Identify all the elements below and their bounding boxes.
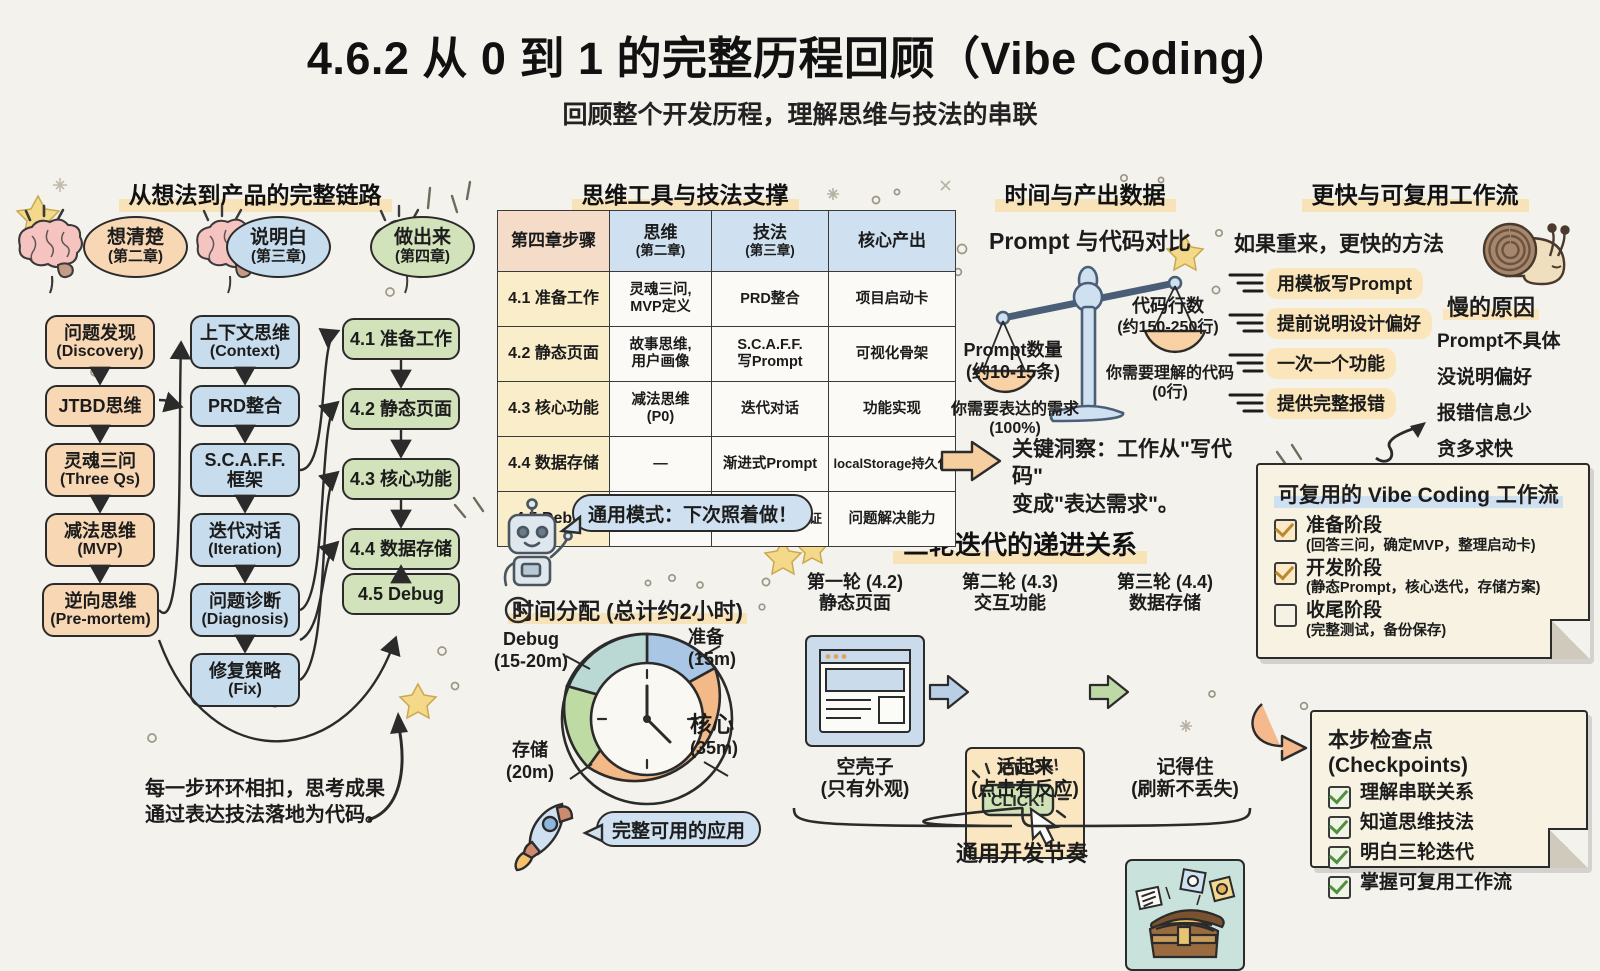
round-2-title: 第二轮 (4.3) 交互功能 bbox=[940, 572, 1080, 614]
chain-footnote: 每一步环环相扣，思考成果 通过表达技法落地为代码。 bbox=[120, 776, 410, 828]
cell-step: 4.3 核心功能 bbox=[498, 382, 610, 437]
donut-label-storage: 存储 (20m) bbox=[489, 740, 571, 783]
checkbox-cp1[interactable] bbox=[1328, 786, 1351, 809]
checkpoint-item[interactable]: 掌握可复用工作流 bbox=[1328, 873, 1570, 899]
chapter-bubble-3: 做出来 (第四章) bbox=[370, 216, 475, 278]
iteration-footer: 通用开发节奏 bbox=[792, 836, 1252, 868]
cell-technique: S.C.A.F.F.写Prompt bbox=[712, 327, 829, 382]
chain-footnote-line2: 通过表达技法落地为代码。 bbox=[120, 802, 410, 828]
slow-item-1: Prompt不具体 bbox=[1437, 326, 1561, 353]
checkpoint-item[interactable]: 知道思维技法 bbox=[1328, 813, 1570, 839]
cell-technique: 迭代对话 bbox=[712, 382, 829, 437]
table-row: 4.4 数据存储—渐进式PromptlocalStorage持久化 bbox=[498, 437, 956, 492]
cell-step: 4.2 静态页面 bbox=[498, 327, 610, 382]
card-folded-corner bbox=[1548, 828, 1588, 868]
robot-speech-text: 通用模式：下次照着做！ bbox=[588, 500, 797, 527]
checkbox-cp4[interactable] bbox=[1328, 876, 1351, 899]
faster-item-2: 提前说明设计偏好 bbox=[1266, 308, 1432, 339]
flow-node-discovery: 问题发现 (Discovery) bbox=[45, 315, 155, 369]
chapter-bubble-3-title: 做出来 bbox=[394, 228, 451, 249]
section-heading-tools-label: 思维工具与技法支撑 bbox=[572, 176, 799, 212]
section-heading-chain-label: 从想法到产品的完整链路 bbox=[119, 176, 392, 212]
round-1-title: 第一轮 (4.2) 静态页面 bbox=[785, 572, 925, 614]
scale-caption: Prompt 与代码对比 bbox=[950, 222, 1230, 256]
checkpoints-title: 本步检查点 (Checkpoints) bbox=[1328, 724, 1570, 778]
flow-node-mvp: 减法思维 (MVP) bbox=[45, 513, 155, 567]
reusable-item-2[interactable]: 开发阶段 (静态Prompt，核心迭代，存储方案) bbox=[1274, 559, 1572, 598]
faster-item-1: 用模板写Prompt bbox=[1266, 268, 1423, 299]
checkpoints-card: 本步检查点 (Checkpoints) 理解串联关系 知道思维技法 明白三轮迭代… bbox=[1310, 710, 1588, 868]
flow-node-three-qs: 灵魂三问 (Three Qs) bbox=[45, 443, 155, 497]
faster-title: 如果重来，更快的方法 bbox=[1234, 228, 1444, 258]
section-heading-workflow-label: 更快与可复用工作流 bbox=[1302, 176, 1529, 212]
rocket-speech-bubble: 完整可用的应用 bbox=[596, 811, 761, 847]
cell-step: 4.4 数据存储 bbox=[498, 437, 610, 492]
key-insight-text: 关键洞察：工作从"写代码" 变成"表达需求"。 bbox=[1012, 436, 1242, 518]
reusable-item-3[interactable]: 收尾阶段 (完整测试，备份保存) bbox=[1274, 601, 1572, 640]
key-insight-line1: 关键洞察：工作从"写代码" bbox=[1012, 436, 1242, 491]
checkbox-dev[interactable] bbox=[1274, 562, 1297, 585]
donut-label-debug: Debug (15-20m) bbox=[478, 629, 584, 672]
chapter-bubble-1-sub: (第二章) bbox=[108, 249, 163, 266]
table-header-mindset: 思维 (第二章) bbox=[610, 211, 712, 272]
section-heading-workflow: 更快与可复用工作流 bbox=[1250, 176, 1580, 212]
table-row: 4.1 准备工作灵魂三问,MVP定义PRD整合项目启动卡 bbox=[498, 272, 956, 327]
slow-title: 慢的原因 bbox=[1443, 290, 1539, 322]
flow-node-4-1: 4.1 准备工作 bbox=[342, 318, 460, 360]
robot-speech-bubble: 通用模式：下次照着做！ bbox=[572, 494, 813, 532]
page-subtitle: 回顾整个开发历程，理解思维与技法的串联 bbox=[0, 95, 1600, 131]
checkpoint-item[interactable]: 理解串联关系 bbox=[1328, 783, 1570, 809]
checkbox-cp3[interactable] bbox=[1328, 846, 1351, 869]
treasure-chest-icon bbox=[1130, 865, 1240, 965]
cell-technique: 渐进式Prompt bbox=[712, 437, 829, 492]
checkbox-cp2[interactable] bbox=[1328, 816, 1351, 839]
snail-icon bbox=[1472, 218, 1574, 290]
table-header-technique: 技法 (第三章) bbox=[712, 211, 829, 272]
section-heading-tools: 思维工具与技法支撑 bbox=[520, 176, 850, 212]
chapter-bubble-1-title: 想清楚 bbox=[107, 228, 164, 249]
scale-right-sublabel: 你需要理解的代码 (0行) bbox=[1090, 364, 1250, 402]
round-arrow-1-2 bbox=[928, 674, 970, 710]
flow-node-premortem: 逆向思维 (Pre-mortem) bbox=[42, 583, 159, 637]
list-bullet-lines bbox=[1228, 268, 1268, 428]
cell-output: 项目启动卡 bbox=[829, 272, 956, 327]
slow-item-4: 贪多求快 bbox=[1437, 434, 1513, 461]
chapter-bubble-3-sub: (第四章) bbox=[395, 249, 450, 266]
time-alloc-heading: 时间分配 (总计约2小时) bbox=[508, 594, 788, 626]
cell-step: 4.1 准备工作 bbox=[498, 272, 610, 327]
chapter-bubble-2-sub: (第三章) bbox=[251, 249, 306, 266]
checkbox-prep[interactable] bbox=[1274, 519, 1297, 542]
round-3-caption: 记得住 (刷新不丢失) bbox=[1115, 757, 1255, 802]
flow-node-scaff: S.C.A.F.F. 框架 bbox=[190, 443, 300, 497]
cell-mindset: 减法思维(P0) bbox=[610, 382, 712, 437]
cell-mindset: 灵魂三问,MVP定义 bbox=[610, 272, 712, 327]
flow-node-4-2: 4.2 静态页面 bbox=[342, 388, 460, 430]
checkpoints-arrow-icon bbox=[1248, 698, 1312, 758]
donut-label-prep: 准备 (15m) bbox=[688, 627, 768, 670]
section-heading-data-label: 时间与产出数据 bbox=[995, 176, 1176, 212]
cell-output: localStorage持久化 bbox=[829, 437, 956, 492]
donut-label-core: 核心 (35m) bbox=[690, 712, 770, 760]
page-title: 4.6.2 从 0 到 1 的完整历程回顾（Vibe Coding） bbox=[0, 22, 1600, 87]
checkpoint-item[interactable]: 明白三轮迭代 bbox=[1328, 843, 1570, 869]
flow-node-jtbd: JTBD思维 bbox=[45, 385, 155, 427]
flow-node-4-3: 4.3 核心功能 bbox=[342, 458, 460, 500]
time-alloc-heading-label: 时间分配 (总计约2小时) bbox=[508, 599, 747, 624]
chain-footnote-line1: 每一步环环相扣，思考成果 bbox=[120, 776, 410, 802]
round-2-caption: 活起来 (点击有反应) bbox=[955, 757, 1095, 802]
round-3-title: 第三轮 (4.4) 数据存储 bbox=[1095, 572, 1235, 614]
section-heading-data: 时间与产出数据 bbox=[960, 176, 1210, 212]
table-row: 4.3 核心功能减法思维(P0)迭代对话功能实现 bbox=[498, 382, 956, 437]
flow-node-4-5: 4.5 Debug bbox=[342, 573, 460, 615]
flow-node-prd: PRD整合 bbox=[190, 385, 300, 427]
slow-item-2: 没说明偏好 bbox=[1437, 362, 1532, 389]
table-header-output: 核心产出 bbox=[829, 211, 956, 272]
reusable-workflow-title: 可复用的 Vibe Coding 工作流 bbox=[1274, 479, 1572, 509]
round-3-illustration bbox=[1125, 859, 1245, 971]
curly-up-arrow-icon bbox=[1372, 416, 1444, 466]
flow-node-fix: 修复策略 (Fix) bbox=[190, 653, 300, 707]
flow-node-context: 上下文思维 (Context) bbox=[190, 315, 300, 369]
cell-mindset: 故事思维,用户画像 bbox=[610, 327, 712, 382]
key-insight-line2: 变成"表达需求"。 bbox=[1012, 491, 1242, 518]
faster-item-3: 一次一个功能 bbox=[1266, 348, 1396, 379]
flow-node-4-4: 4.4 数据存储 bbox=[342, 528, 460, 570]
reusable-workflow-card: 可复用的 Vibe Coding 工作流 准备阶段 (回答三问，确定MVP，整理… bbox=[1256, 463, 1590, 659]
cell-mindset: — bbox=[610, 437, 712, 492]
table-header-row: 第四章步骤 思维 (第二章) 技法 (第三章) 核心产出 bbox=[498, 211, 956, 272]
flow-node-diagnosis: 问题诊断 (Diagnosis) bbox=[190, 583, 300, 637]
round-1-caption: 空壳子 (只有外观) bbox=[795, 757, 935, 802]
cell-output: 问题解决能力 bbox=[829, 492, 956, 547]
chapter-bubble-2: 说明白 (第三章) bbox=[226, 216, 331, 278]
table-row: 4.2 静态页面故事思维,用户画像S.C.A.F.F.写Prompt可视化骨架 bbox=[498, 327, 956, 382]
cell-technique: PRD整合 bbox=[712, 272, 829, 327]
scale-left-sublabel: 你需要表达的需求 (100%) bbox=[930, 400, 1100, 438]
scale-left-label: Prompt数量 (约10-15条) bbox=[938, 340, 1088, 383]
section-heading-chain: 从想法到产品的完整链路 bbox=[60, 176, 450, 212]
browser-window-icon bbox=[817, 647, 913, 735]
rocket-speech-text: 完整可用的应用 bbox=[612, 816, 745, 843]
cell-output: 可视化骨架 bbox=[829, 327, 956, 382]
card-folded-corner bbox=[1550, 619, 1590, 659]
reusable-item-1[interactable]: 准备阶段 (回答三问，确定MVP，整理启动卡) bbox=[1274, 516, 1572, 555]
slow-item-3: 报错信息少 bbox=[1437, 398, 1532, 425]
round-arrow-2-3 bbox=[1088, 674, 1130, 710]
infographic-canvas: 4.6.2 从 0 到 1 的完整历程回顾（Vibe Coding） 回顾整个开… bbox=[0, 0, 1600, 894]
round-1-illustration bbox=[805, 635, 925, 747]
flow-node-iteration: 迭代对话 (Iteration) bbox=[190, 513, 300, 567]
faster-item-4: 提供完整报错 bbox=[1266, 388, 1396, 419]
table-header-step: 第四章步骤 bbox=[498, 211, 610, 272]
chapter-bubble-2-title: 说明白 bbox=[250, 228, 307, 249]
checkbox-wrapup[interactable] bbox=[1274, 604, 1297, 627]
chapter-bubble-1: 想清楚 (第二章) bbox=[83, 216, 188, 278]
scale-right-label: 代码行数 (约150-250行) bbox=[1098, 296, 1238, 337]
